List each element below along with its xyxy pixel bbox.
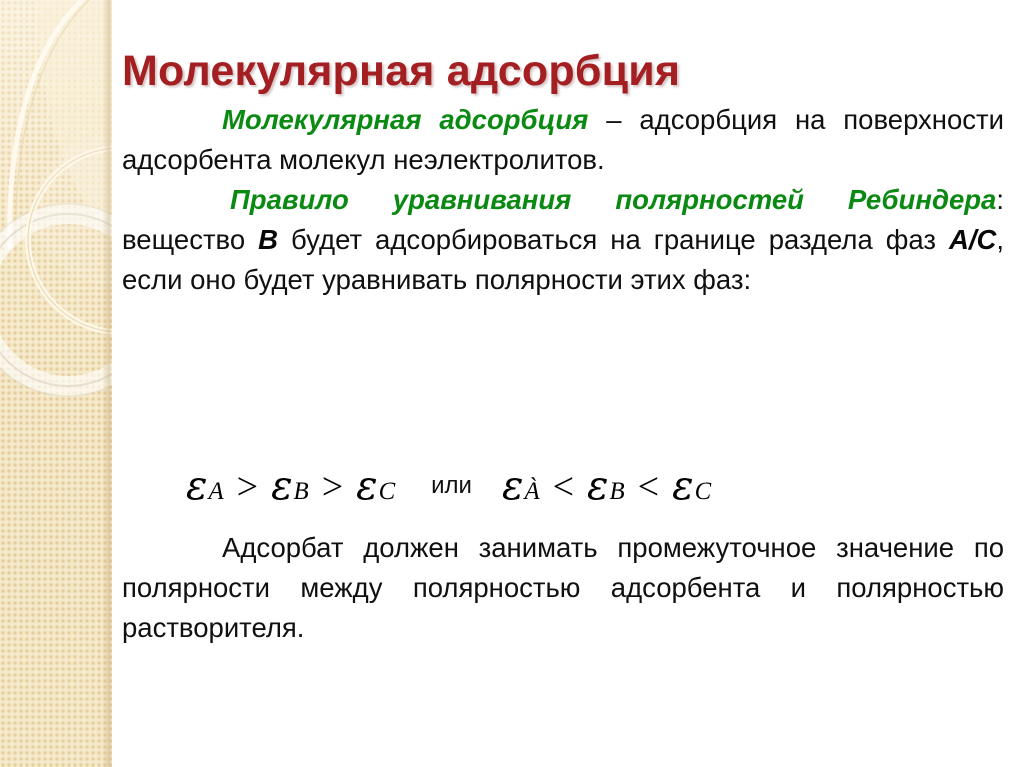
- symbol-substance-b: В: [258, 224, 278, 255]
- epsilon-c2-symbol: ε: [672, 463, 693, 509]
- sidebar-decorative-rings: [0, 0, 112, 767]
- decorative-sidebar: [0, 0, 112, 767]
- formula-decreasing-polarity: εA>εB>εC: [186, 463, 397, 509]
- paragraph-definition: Молекулярная адсорбция – адсорбция на по…: [122, 100, 1004, 180]
- rebinder-text-2: будет адсорбироваться на границе раздела…: [278, 224, 949, 255]
- paragraph-rebinder-rule: Правило уравнивания полярностей Ребиндер…: [122, 180, 1004, 300]
- relation-greater-2: >: [322, 465, 343, 509]
- relation-less-1: <: [553, 465, 574, 509]
- epsilon-c2-subscript: C: [695, 478, 712, 506]
- formula-row: εA>εB>εC или εÀ<εB<εC: [122, 448, 1004, 524]
- slide-title: Молекулярная адсорбция: [122, 43, 1002, 99]
- slide-body-lower: Адсорбат должен занимать промежуточное з…: [122, 528, 1004, 648]
- symbol-phase-boundary-ac: А/С: [949, 224, 996, 255]
- slide-body: Молекулярная адсорбция – адсорбция на по…: [122, 100, 1004, 300]
- epsilon-c-subscript: C: [379, 478, 396, 506]
- term-rebinder-rule: Правило уравнивания полярностей Ребиндер…: [230, 184, 996, 215]
- epsilon-a-symbol: ε: [186, 463, 207, 509]
- relation-greater-1: >: [237, 465, 258, 509]
- epsilon-b-symbol: ε: [271, 463, 292, 509]
- paragraph-adsorbate: Адсорбат должен занимать промежуточное з…: [122, 528, 1004, 648]
- epsilon-b2-symbol: ε: [587, 463, 608, 509]
- epsilon-a2-symbol: ε: [502, 463, 523, 509]
- epsilon-a2-subscript: À: [524, 478, 539, 506]
- sidebar-overlap-lens: [34, 136, 112, 284]
- epsilon-a-subscript: A: [208, 478, 223, 506]
- term-molecular-adsorption: Молекулярная адсорбция: [222, 104, 588, 135]
- epsilon-b2-subscript: B: [610, 478, 625, 506]
- sidebar-right-edge: [102, 0, 112, 767]
- slide: Молекулярная адсорбция Молекулярная адсо…: [0, 0, 1024, 767]
- formula-conjunction-or: или: [431, 472, 472, 500]
- epsilon-c-symbol: ε: [356, 463, 377, 509]
- relation-less-2: <: [638, 465, 659, 509]
- formula-increasing-polarity: εÀ<εB<εC: [502, 463, 713, 509]
- epsilon-b-subscript: B: [294, 478, 309, 506]
